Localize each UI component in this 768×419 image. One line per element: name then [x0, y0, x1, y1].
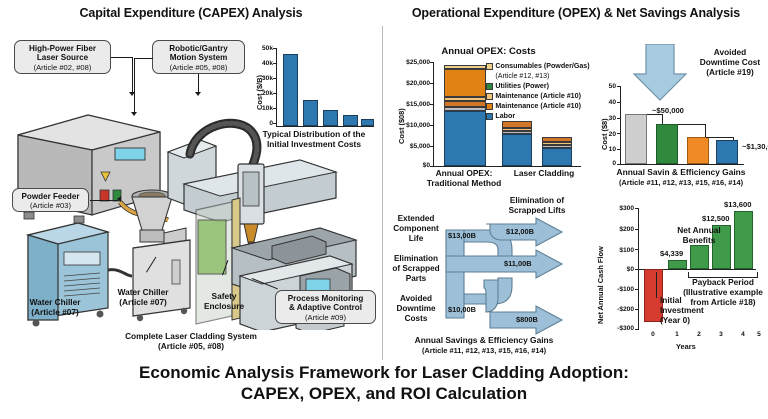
cashflow-bar-year2 — [690, 245, 709, 269]
capex-tick — [273, 48, 276, 49]
capex-ytick-0: 0 — [252, 120, 273, 127]
cashflow-annotation-payback-period: Payback Period (Illustrative example fro… — [678, 278, 768, 307]
flow-label-line1: Avoided — [386, 294, 446, 304]
opex-panel-title: Operational Expenditure (OPEX) & Net Sav… — [384, 6, 768, 20]
cashflow-label-year1: $4,339 — [660, 249, 683, 258]
flow-value-in-bottom: $10,00B — [448, 305, 476, 314]
cashflow-annotation-net-benefits: Net Annual Benefits — [668, 226, 730, 246]
cashflow-label-year4: $13,600 — [724, 200, 751, 209]
annual-savings-chart: Avoided Downtime Cost (Article #19) Cost… — [596, 42, 768, 192]
legend-swatch-consumables — [486, 63, 493, 70]
savings-bar-baseline — [625, 114, 647, 164]
opex-tick — [430, 83, 433, 84]
callout-article: (Article #09) — [279, 313, 372, 323]
callout-article: (Article #05, #08) — [156, 63, 241, 73]
leader-laser-source-v — [132, 57, 133, 94]
savings-tick — [617, 164, 620, 165]
flow-label-elimination-scrapped-parts: Elimination of Scrapped Parts — [386, 254, 446, 283]
cashflow-xtick-2: 2 — [692, 331, 706, 338]
legend-row-consumables: Consumables (Powder/Gas) — [486, 62, 586, 72]
opex-chart-title: Annual OPEX: Costs — [396, 46, 581, 57]
flow-label-line3: Life — [386, 234, 446, 244]
capex-bar-2 — [303, 100, 318, 126]
capex-chart-y-axis — [276, 48, 277, 126]
flow-label-line3: Costs — [386, 314, 446, 324]
opex-tick — [430, 166, 433, 167]
legend-label-maintenance-1: Maintenance (Article #10) — [495, 92, 581, 102]
savings-tick — [617, 86, 620, 87]
cashflow-tick — [635, 269, 638, 270]
cashflow-ytick-2: -$100 — [600, 286, 634, 293]
capex-tick — [273, 108, 276, 109]
opex-tick — [430, 146, 433, 147]
opex-seg-labor — [542, 148, 572, 166]
savings-connector-3 — [706, 137, 734, 140]
legend-label-consumables-article: (Article #12, #13) — [495, 72, 549, 82]
savings-flow-diagram: Extended Component Life Elimination of S… — [386, 200, 584, 360]
opex-tick — [430, 125, 433, 126]
cashflow-tick — [635, 289, 638, 290]
savings-ytick-4: 40 — [598, 99, 616, 106]
opex-xcat-line2: Traditional Method — [416, 179, 512, 189]
capex-ytick-1: 10k — [252, 105, 273, 112]
callout-process-monitoring[interactable]: Process Monitoring & Adaptive Control (A… — [275, 290, 376, 324]
cashflow-x-label: Years — [676, 342, 696, 351]
cashflow-tick — [635, 229, 638, 230]
capex-bar-1 — [283, 54, 298, 126]
callout-article: (Article #03) — [16, 201, 85, 211]
cashflow-tick — [635, 329, 638, 330]
savings-label-130000: ~$1,30,000 — [742, 142, 768, 151]
callout-powder-feeder[interactable]: Powder Feeder (Article #03) — [12, 188, 89, 212]
cashflow-label-year3: $12,500 — [702, 214, 729, 223]
figure-caption: Economic Analysis Framework for Laser Cl… — [0, 362, 768, 404]
leader-gantry-v — [198, 74, 199, 94]
legend-label-labor: Labor — [495, 112, 515, 122]
opex-seg-labor — [444, 111, 486, 166]
flow-label-line1: Elimination — [386, 254, 446, 264]
cashflow-initial-investment-leader — [656, 272, 662, 298]
opex-ytick-4: $20,000 — [392, 80, 430, 87]
callout-line1: Powder Feeder — [16, 192, 85, 202]
legend-swatch-maintenance-2 — [486, 103, 493, 110]
net-cash-flow-chart: Net Annual Cash Flow $300 $200 $100 $0 -… — [592, 200, 768, 356]
legend-row-maintenance-1: Maintenance (Article #10) — [486, 92, 586, 102]
capex-bar-3 — [323, 110, 338, 126]
capex-distribution-chart: Cost ($/B) 50k 40k 30k 20k 10k 0 Typical… — [252, 48, 376, 148]
capex-tick — [273, 63, 276, 64]
callout-laser-source[interactable]: High-Power Fiber Laser Source (Article #… — [14, 40, 111, 74]
cashflow-bar-year4 — [734, 211, 753, 269]
cashflow-ytick-4: $100 — [600, 247, 634, 254]
opex-stack-traditional — [444, 65, 486, 166]
savings-ytick-2: 20 — [598, 131, 616, 138]
legend-swatch-labor — [486, 113, 493, 120]
flow-value-out-mid: $11,00B — [504, 259, 532, 268]
flow-label-line3: Parts — [386, 274, 446, 284]
savings-tick — [617, 149, 620, 150]
label-line2: Enclosure — [190, 302, 258, 312]
opex-costs-chart: Cost ($08) $25,000 $20,000 $15,000 $10,0… — [392, 60, 582, 190]
flow-value-in-top: $13,00B — [448, 231, 476, 240]
label-complete-system: Complete Laser Cladding System (Article … — [88, 332, 294, 352]
flow-label-line2: of Scrapped — [386, 264, 446, 274]
flow-label-line2: Component — [386, 224, 446, 234]
cashflow-tick — [635, 208, 638, 209]
flow-caption-line2: (Article #11, #12, #13, #15, #16, #14) — [384, 346, 584, 356]
opex-seg-consumables — [502, 121, 532, 128]
cashflow-ytick-1: -$200 — [600, 306, 634, 313]
savings-chart-y-axis — [620, 86, 621, 164]
legend-swatch-maintenance-1 — [486, 93, 493, 100]
savings-caption-line2: (Article #11, #12, #13, #15, #16, #14) — [594, 178, 768, 188]
flow-value-out-top: $12,00B — [506, 227, 534, 236]
savings-connector-2 — [678, 124, 706, 137]
cashflow-xtick-0: 0 — [646, 331, 660, 338]
opex-ytick-3: $15,000 — [392, 101, 430, 108]
callout-line2: Laser Source — [18, 53, 107, 63]
cashflow-ytick-6: $300 — [600, 205, 634, 212]
capex-panel-title: Capital Expenditure (CAPEX) Analysis — [0, 6, 382, 20]
payback-line3: from Article #18) — [678, 298, 768, 308]
opex-seg-labor — [502, 134, 532, 166]
capex-chart-x-axis — [276, 126, 374, 127]
flow-label-line2: Scrapped Lifts — [490, 206, 584, 216]
savings-tick — [617, 118, 620, 119]
label-safety-enclosure: Safety Enclosure — [190, 292, 258, 312]
callout-line1: High-Power Fiber — [18, 44, 107, 54]
opex-tick — [430, 104, 433, 105]
flow-caption-line1: Annual Savings & Efficiency Gains — [384, 336, 584, 346]
cashflow-xtick-4: 4 — [736, 331, 750, 338]
leader-gantry-left-h — [134, 58, 153, 59]
legend-label-utilities: Utilities (Power) — [495, 82, 549, 92]
figure-caption-line2: CAPEX, OPEX, and ROI Calculation — [0, 383, 768, 404]
capex-bar-5 — [361, 119, 374, 126]
savings-ytick-0: 0 — [598, 160, 616, 167]
opex-ytick-5: $25,000 — [392, 59, 430, 66]
avoided-downtime-line3: (Article #19) — [692, 68, 768, 78]
opex-chart-legend: Consumables (Powder/Gas) (Article #12, #… — [486, 62, 586, 122]
opex-ytick-1: $5,000 — [392, 143, 430, 150]
legend-row-consumables-article: (Article #12, #13) — [486, 72, 586, 82]
flow-label-elimination-scrapped-lifts: Elimination of Scrapped Lifts — [490, 196, 584, 216]
label-line2: (Article #05, #08) — [88, 342, 294, 352]
flow-label-line1: Extended — [386, 214, 446, 224]
leader-powder-feeder-arrow — [117, 196, 121, 202]
callout-article: (Article #02, #08) — [18, 63, 107, 73]
opex-chart-x-axis — [433, 166, 581, 167]
capex-bar-4 — [343, 115, 358, 126]
legend-label-maintenance-2: Maintenance (Article #10) — [495, 102, 581, 112]
legend-row-utilities: Utilities (Power) — [486, 82, 586, 92]
opex-xcat-laser: Laser Cladding — [504, 169, 584, 179]
legend-row-labor: Labor — [486, 112, 586, 122]
opex-ytick-0: $0 — [392, 162, 430, 169]
capex-tick — [273, 93, 276, 94]
callout-line2: Motion System — [156, 53, 241, 63]
cashflow-ytick-3: $0 — [600, 266, 634, 273]
legend-swatch-utilities — [486, 83, 493, 90]
flow-label-line2: Downtime — [386, 304, 446, 314]
savings-bar-blue — [716, 140, 738, 164]
leader-gantry-left-arrow — [131, 112, 137, 116]
savings-connector-1 — [647, 114, 663, 124]
flow-diagram-caption: Annual Savings & Efficiency Gains (Artic… — [384, 336, 584, 356]
flow-value-out-bottom: $800B — [516, 315, 538, 324]
savings-bar-green — [656, 124, 678, 164]
capex-tick — [273, 78, 276, 79]
capex-tick — [273, 123, 276, 124]
savings-chart-caption: Annual Savin & Efficiency Gains (Article… — [594, 168, 768, 188]
cashflow-ytick-5: $200 — [600, 226, 634, 233]
savings-ytick-3: 30 — [598, 115, 616, 122]
cashflow-bar-year1 — [668, 260, 687, 269]
capex-ytick-5: 50k — [252, 45, 273, 52]
opex-ytick-2: $10,000 — [392, 122, 430, 129]
opex-chart-y-axis — [433, 62, 434, 166]
label-line2: (Article #07) — [100, 298, 186, 308]
leader-gantry-left-v — [134, 58, 135, 114]
opex-xcat-traditional: Annual OPEX: Traditional Method — [416, 169, 512, 189]
cashflow-tick — [635, 309, 638, 310]
leader-laser-source-h — [111, 57, 133, 58]
label-water-chiller-left: Water Chiller (Article #07) — [8, 298, 102, 318]
avoided-downtime-annotation: Avoided Downtime Cost (Article #19) — [692, 48, 768, 77]
cashflow-xtick-1: 1 — [670, 331, 684, 338]
net-benefits-line2: Benefits — [668, 236, 730, 246]
opex-tick — [430, 62, 433, 63]
cashflow-ytick-0: -$300 — [600, 325, 634, 332]
capex-ytick-2: 20k — [252, 90, 273, 97]
capex-chart-caption: Typical Distribution of the Initial Inve… — [248, 130, 380, 150]
legend-label-consumables: Consumables (Powder/Gas) — [495, 62, 589, 72]
cashflow-xtick-3: 3 — [714, 331, 728, 338]
opex-xcat-line1: Laser Cladding — [504, 169, 584, 179]
leader-powder-feeder-h — [90, 200, 118, 201]
legend-row-maintenance-2: Maintenance (Article #10) — [486, 102, 586, 112]
callout-line2: & Adaptive Control — [279, 303, 372, 313]
savings-tick — [617, 102, 620, 103]
savings-tick — [617, 133, 620, 134]
savings-chart-x-axis — [620, 164, 744, 165]
callout-gantry[interactable]: Robotic/Gantry Motion System (Article #0… — [152, 40, 245, 74]
savings-bar-orange — [687, 137, 709, 164]
callout-line1: Process Monitoring — [279, 294, 372, 304]
leader-gantry-arrow — [195, 92, 201, 96]
opex-seg-consumables — [444, 69, 486, 97]
flow-label-line1: Elimination of — [490, 196, 584, 206]
opex-stack-laser-a — [502, 121, 532, 166]
cashflow-xtick-5: 5 — [752, 331, 766, 338]
savings-ytick-5: 50 — [598, 83, 616, 90]
capex-ytick-4: 40k — [252, 60, 273, 67]
capex-caption-line2: Initial Investment Costs — [248, 140, 380, 150]
savings-caption-line1: Annual Savin & Efficiency Gains — [594, 168, 768, 178]
flow-label-avoided-downtime-costs: Avoided Downtime Costs — [386, 294, 446, 323]
capex-ytick-3: 30k — [252, 75, 273, 82]
cashflow-tick — [635, 249, 638, 250]
savings-ytick-1: 10 — [598, 146, 616, 153]
label-line2: (Article #07) — [8, 308, 102, 318]
savings-label-50000: ~$50,000 — [652, 106, 684, 115]
figure-caption-line1: Economic Analysis Framework for Laser Cl… — [0, 362, 768, 383]
panel-divider — [382, 26, 383, 360]
callout-line1: Robotic/Gantry — [156, 44, 241, 54]
initial-investment-line3: (Year 0) — [660, 316, 710, 326]
opex-stack-laser-b — [542, 137, 572, 166]
flow-label-extended-component-life: Extended Component Life — [386, 214, 446, 243]
label-water-chiller-mid: Water Chiller (Article #07) — [100, 288, 186, 308]
